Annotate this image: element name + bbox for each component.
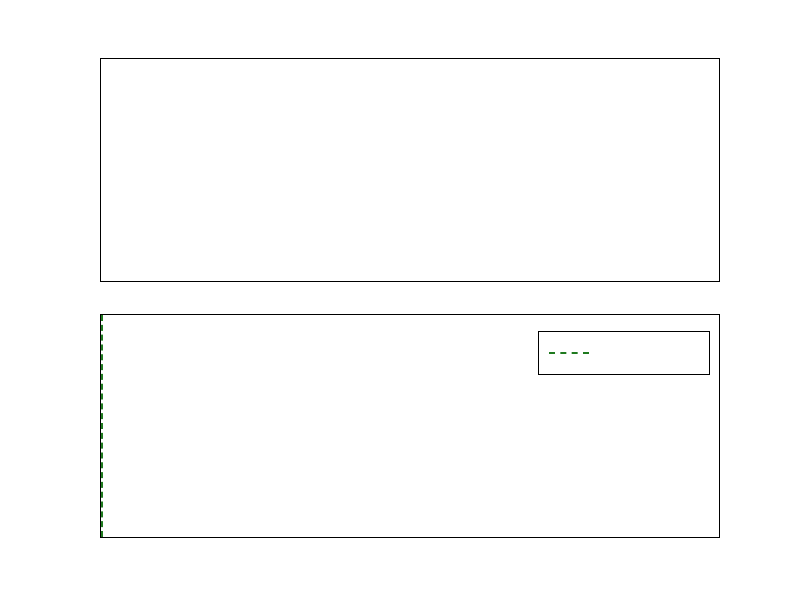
mag-limit-vline [101, 315, 103, 537]
figure [0, 0, 800, 600]
differential-histogram-axes [100, 58, 720, 282]
histogram-bars-layer [101, 59, 719, 281]
cumulative-histogram-axes [100, 314, 720, 538]
mag-limit-legend-swatch-icon [549, 352, 589, 354]
legend[interactable] [538, 331, 710, 375]
